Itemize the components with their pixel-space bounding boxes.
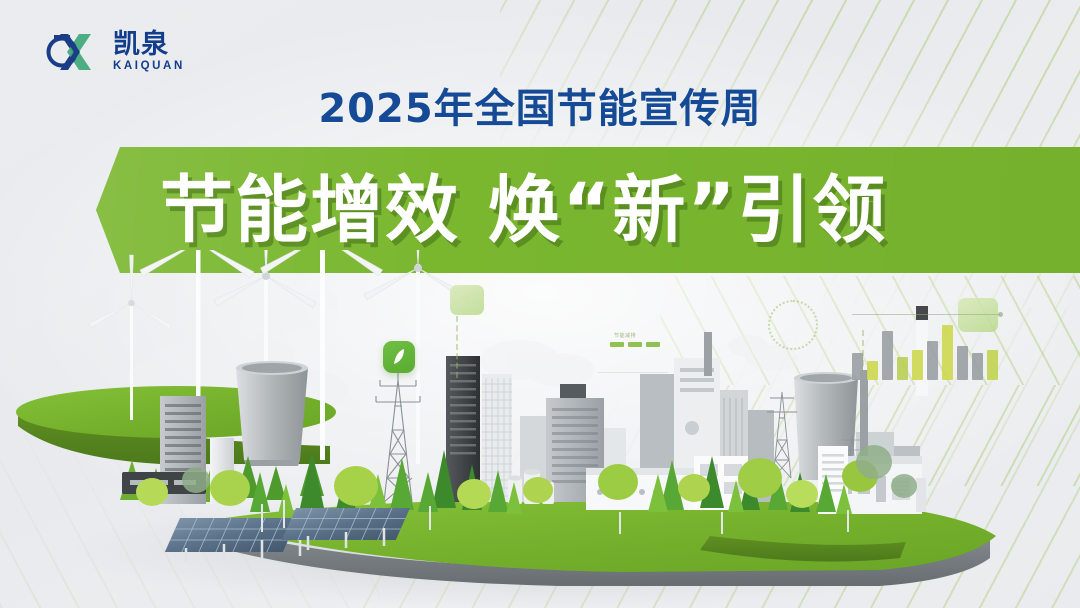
dashed-guide-left (456, 316, 458, 378)
bar-6 (927, 341, 938, 380)
page-title-kicker: 2025年全国节能宣传周 (0, 76, 1080, 134)
bar-8 (957, 346, 968, 380)
green-leaf-app-icon[interactable] (383, 341, 415, 373)
logo-wordmark: 凯泉 KAIQUAN (113, 31, 185, 73)
bar-10 (987, 350, 998, 380)
decorative-bar-chart (852, 318, 998, 380)
bar-7 (942, 325, 953, 380)
dotted-ring-icon (768, 300, 818, 350)
bar-1 (852, 353, 863, 380)
connector-dot (998, 312, 1003, 317)
illustration-scene (0, 250, 1080, 608)
bar-9 (972, 353, 983, 380)
bar-5 (912, 350, 923, 380)
connector-line-2 (598, 372, 668, 373)
kaiquan-logo[interactable]: 凯泉 KAIQUAN (46, 28, 185, 76)
bar-4 (897, 357, 908, 380)
leaf-icon (391, 348, 407, 366)
cooling-tower-left (236, 361, 308, 466)
chip-2 (628, 342, 642, 347)
poster-root: 凯泉 KAIQUAN 2025年全国节能宣传周 节能增效 焕“新”引领 (0, 0, 1080, 608)
connector-line (852, 314, 1000, 315)
logo-english-name: KAIQUAN (113, 61, 185, 73)
city-scene-svg (0, 250, 1080, 608)
bar-2 (867, 361, 878, 380)
chip-3 (646, 342, 660, 347)
logo-chinese-name: 凯泉 (113, 31, 185, 58)
chip-1 (610, 342, 624, 347)
mini-card-icon-1 (450, 285, 484, 315)
bar-3 (882, 331, 893, 380)
scene-tag-label: 节能减排 (614, 332, 636, 339)
scene-tag-chips (610, 342, 660, 347)
kx-monogram-icon (46, 31, 104, 73)
